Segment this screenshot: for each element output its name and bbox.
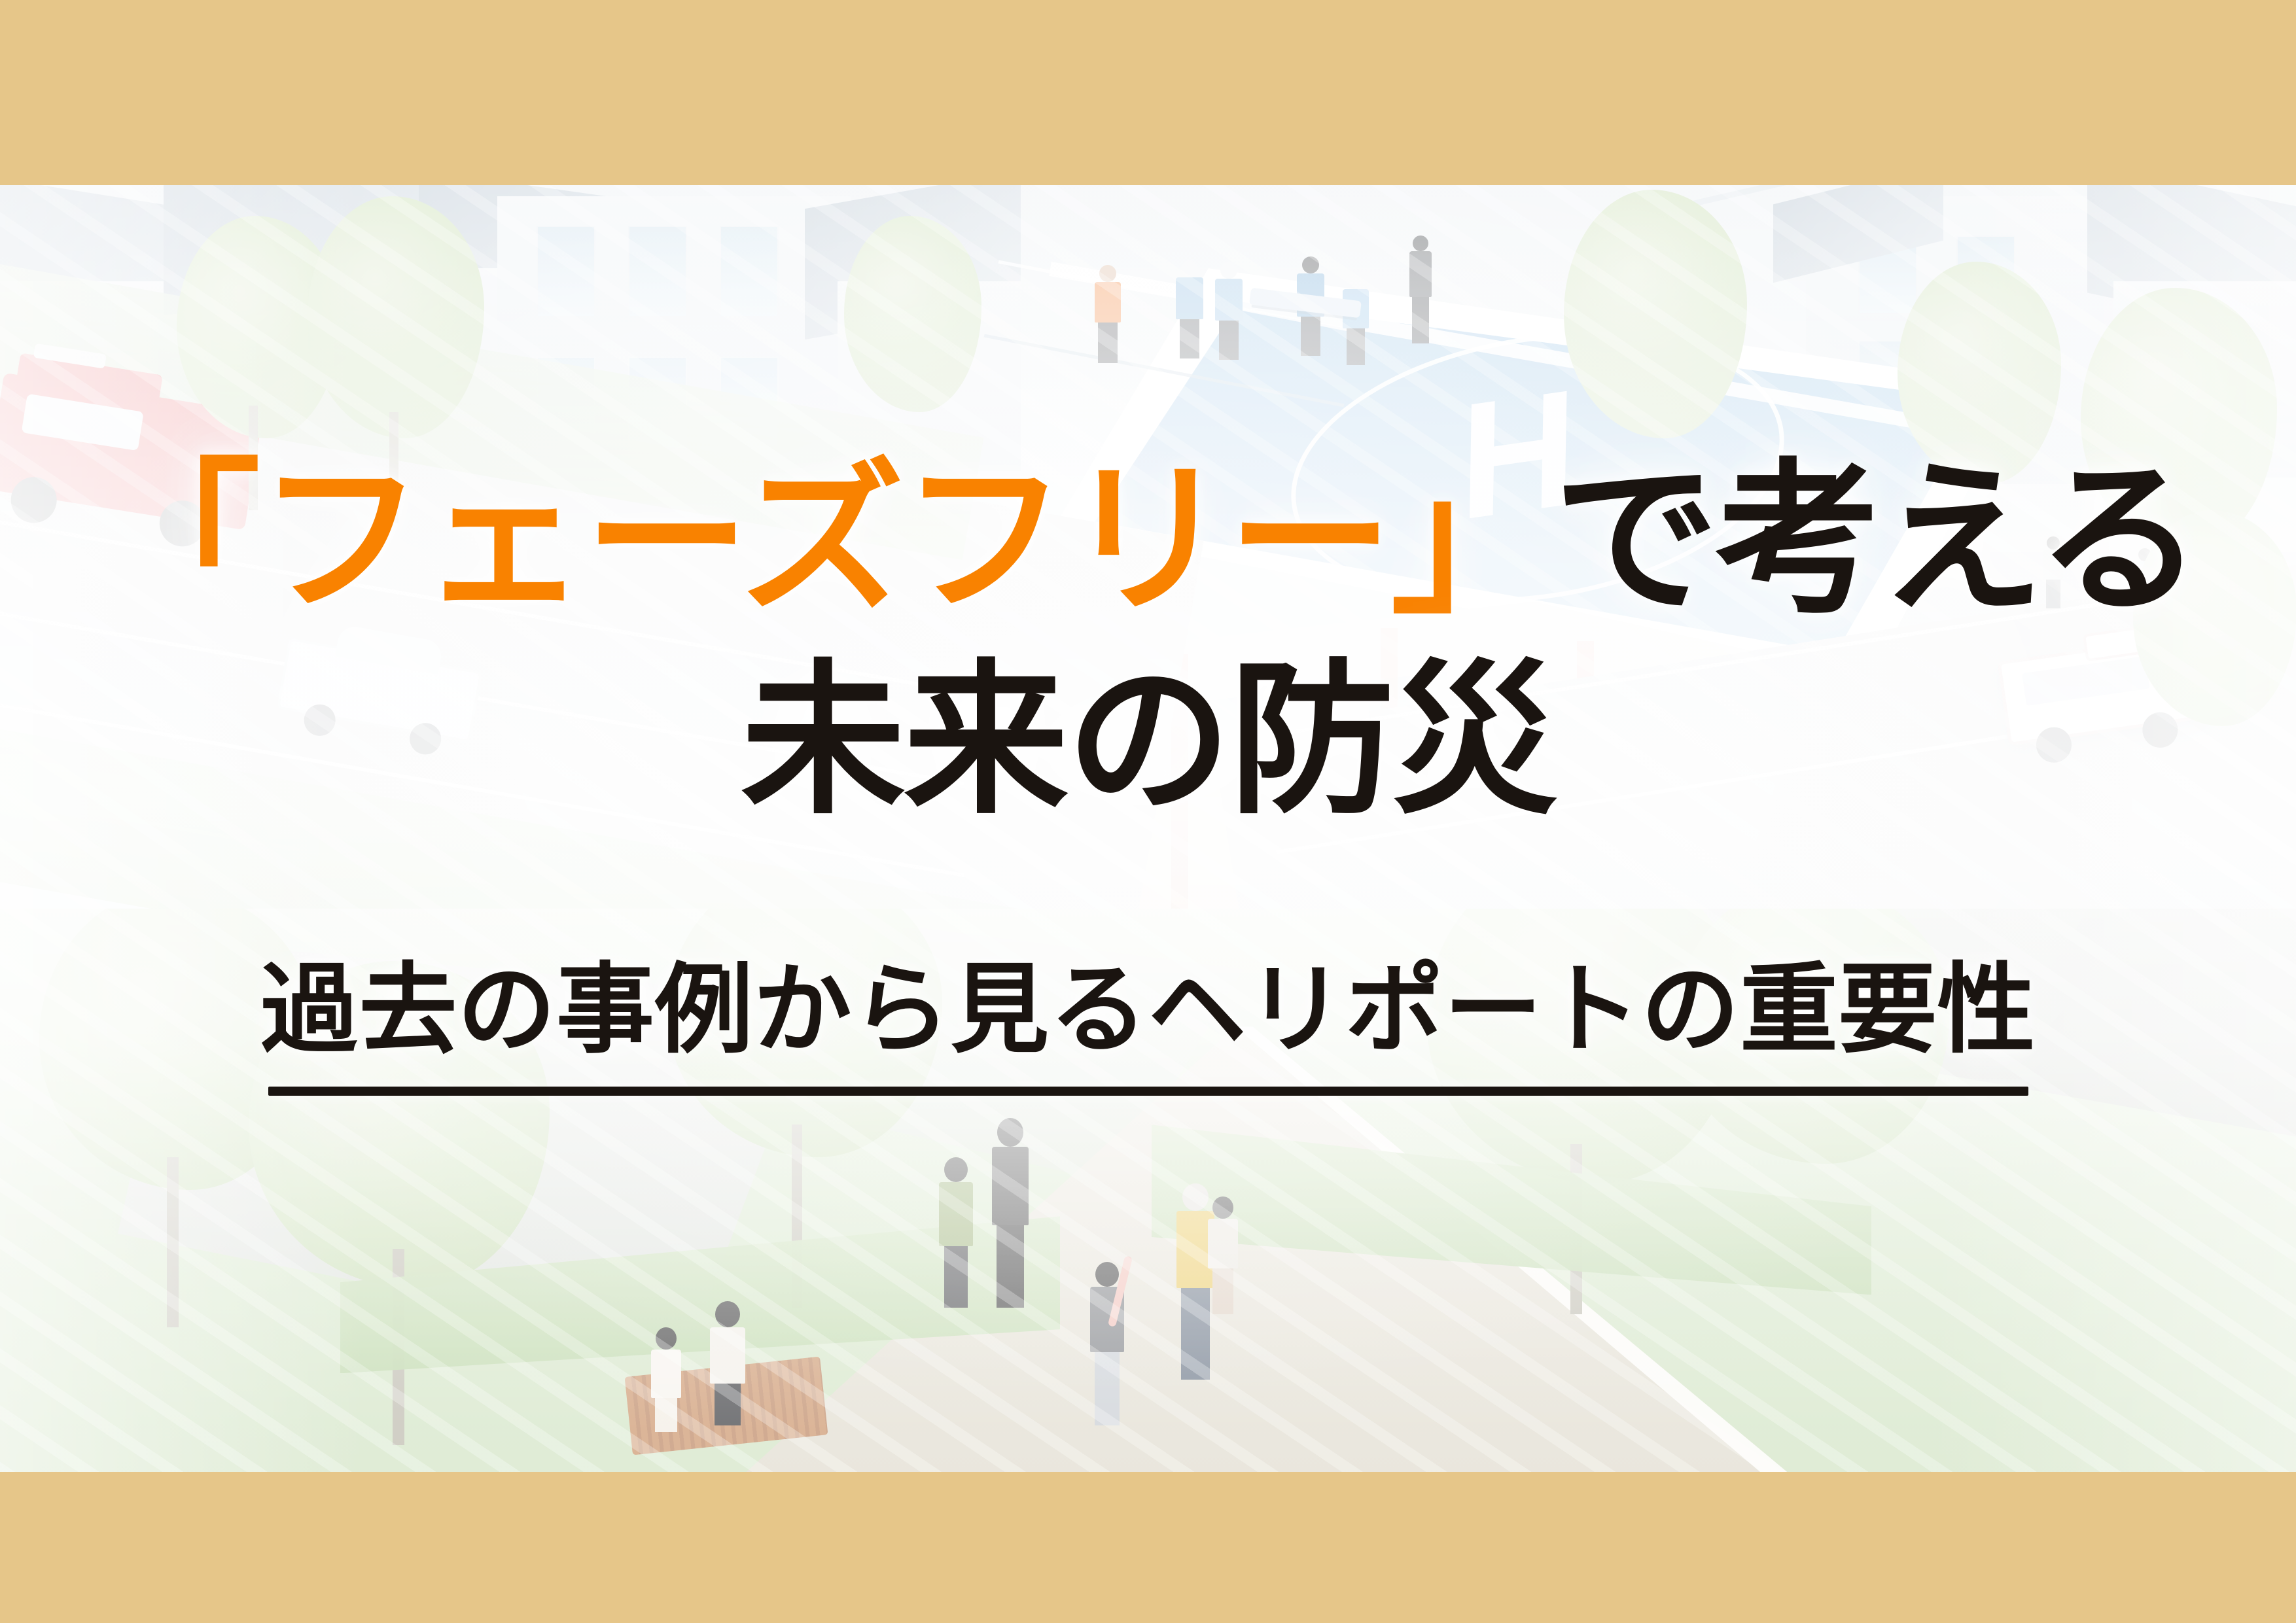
seated-adult (707, 1301, 749, 1425)
seated-child (648, 1327, 684, 1432)
title-accent-phrase: 「フェーズフリー」 (96, 444, 1553, 636)
standing-child-green (936, 1157, 976, 1308)
bottom-band (0, 1472, 2296, 1623)
child-waving (1086, 1262, 1128, 1425)
standing-mother (988, 1118, 1033, 1308)
tree-trunk (167, 1157, 179, 1327)
child-carried (1204, 1196, 1242, 1314)
top-band (0, 0, 2296, 185)
subtitle-underline (268, 1087, 2028, 1096)
title-line-2: 未来の防災 (741, 659, 1555, 824)
title-line-1: 「フェーズフリー」で考える (96, 458, 2200, 623)
slide-root: H (0, 0, 2296, 1623)
subtitle-text: 過去の事例から見るヘリポートの重要性 (260, 961, 2036, 1059)
title-line1-tail: で考える (1553, 444, 2200, 636)
